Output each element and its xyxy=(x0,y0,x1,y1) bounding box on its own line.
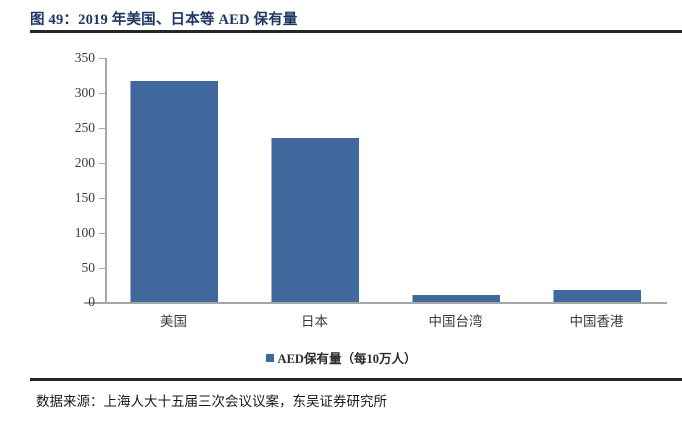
bar-meiguo[interactable] xyxy=(130,81,218,302)
y-tick-0 xyxy=(99,302,105,303)
x-axis-label-zhongguoxianggang: 中国香港 xyxy=(544,310,649,330)
bar-riben[interactable] xyxy=(271,138,359,302)
y-axis-label-0: 0 xyxy=(7,295,95,309)
y-tick-300 xyxy=(99,93,105,94)
source-note: 数据来源：上海人大十五届三次会议议案，东吴证券研究所 xyxy=(36,390,387,410)
y-axis-label-300: 300 xyxy=(7,86,95,100)
y-axis-label-100: 100 xyxy=(7,226,95,240)
bar-zhongguotaiwan[interactable] xyxy=(412,295,500,302)
legend-label-aed: AED保有量（每10万人） xyxy=(278,348,417,367)
title-divider xyxy=(30,30,682,33)
y-tick-200 xyxy=(99,163,105,164)
y-axis-label-150: 150 xyxy=(7,191,95,205)
y-axis-line xyxy=(105,58,107,304)
y-tick-350 xyxy=(99,58,105,59)
y-axis-label-250: 250 xyxy=(7,121,95,135)
y-tick-50 xyxy=(99,268,105,269)
x-axis-line xyxy=(84,302,667,304)
x-axis-label-riben: 日本 xyxy=(271,310,358,330)
figure-title: 图 49：2019 年美国、日本等 AED 保有量 xyxy=(30,8,298,29)
footer-divider xyxy=(30,378,682,381)
y-tick-250 xyxy=(99,128,105,129)
bar-zhongguoxianggang[interactable] xyxy=(553,290,641,302)
y-axis-label-350: 350 xyxy=(7,51,95,65)
y-tick-100 xyxy=(99,233,105,234)
x-axis-label-zhongguotaiwan: 中国台湾 xyxy=(403,310,508,330)
x-axis-label-meiguo: 美国 xyxy=(130,310,217,330)
chart-legend: AED保有量（每10万人） xyxy=(0,348,682,367)
chart-plot-area: 350 300 250 200 150 100 50 0 xyxy=(0,36,682,366)
y-axis-label-200: 200 xyxy=(7,156,95,170)
y-axis-label-50: 50 xyxy=(7,261,95,275)
legend-swatch-aed xyxy=(266,354,274,362)
y-tick-150 xyxy=(99,198,105,199)
figure-block: 图 49：2019 年美国、日本等 AED 保有量 350 300 250 20… xyxy=(0,0,682,427)
